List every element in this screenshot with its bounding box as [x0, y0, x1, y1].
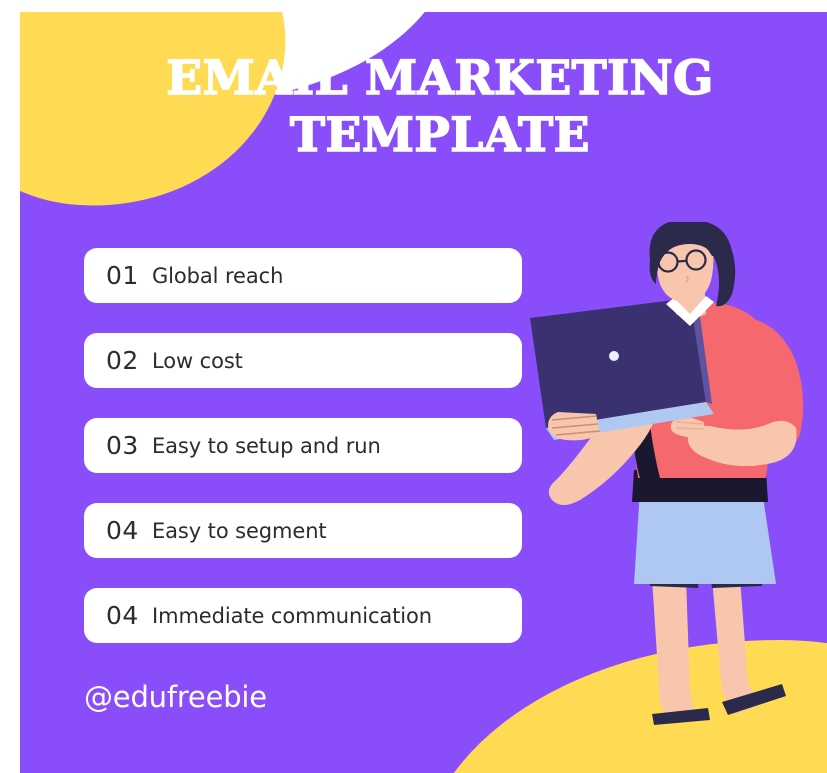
list-item[interactable]: 04 Easy to segment: [84, 503, 522, 558]
list-item-number: 03: [106, 431, 152, 460]
list-item-number: 02: [106, 346, 152, 375]
poster-canvas: EMAIL MARKETING TEMPLATE 01 Global reach…: [0, 0, 827, 773]
list-item-label: Low cost: [152, 349, 243, 373]
list-item-label: Easy to segment: [152, 519, 327, 543]
title-line-1: EMAIL MARKETING: [90, 50, 790, 107]
title-line-2: TEMPLATE: [90, 107, 790, 164]
laptop-screen-dot: [609, 351, 619, 361]
list-item-number: 04: [106, 516, 152, 545]
list-item[interactable]: 04 Immediate communication: [84, 588, 522, 643]
list-item-label: Immediate communication: [152, 604, 432, 628]
left-leg-shape: [652, 578, 696, 722]
woman-illustration: [500, 222, 827, 773]
list-item[interactable]: 03 Easy to setup and run: [84, 418, 522, 473]
feature-list: 01 Global reach 02 Low cost 03 Easy to s…: [84, 248, 522, 673]
social-handle: @edufreebie: [84, 680, 267, 714]
page-title: EMAIL MARKETING TEMPLATE: [90, 50, 790, 165]
skirt: [634, 490, 776, 584]
list-item-number: 01: [106, 261, 152, 290]
purple-background: EMAIL MARKETING TEMPLATE 01 Global reach…: [20, 12, 827, 773]
list-item[interactable]: 01 Global reach: [84, 248, 522, 303]
list-item-number: 04: [106, 601, 152, 630]
list-item-label: Global reach: [152, 264, 283, 288]
list-item[interactable]: 02 Low cost: [84, 333, 522, 388]
list-item-label: Easy to setup and run: [152, 434, 381, 458]
